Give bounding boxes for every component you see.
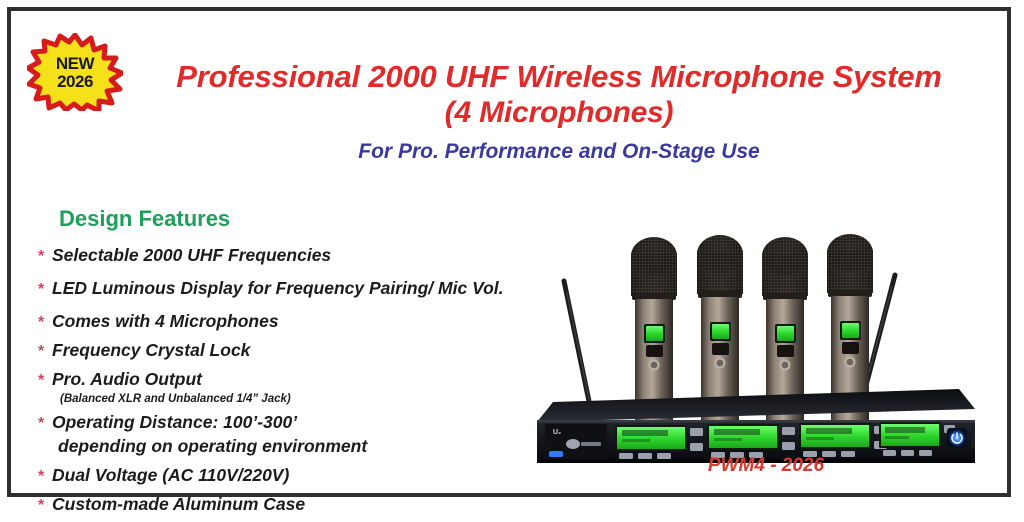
feature-item: * Frequency Crystal Lock: [38, 339, 558, 361]
design-features-heading: Design Features: [59, 206, 230, 232]
microphone-1: [631, 237, 677, 452]
receiver-brand-label: U₂: [553, 429, 561, 436]
model-number-label: PWM4 - 2026: [651, 455, 881, 477]
feature-label: Operating Distance: 100’-300’: [52, 411, 297, 433]
feature-label: Selectable 2000 UHF Frequencies: [52, 244, 331, 266]
feature-item: * Comes with 4 Microphones: [38, 310, 558, 332]
feature-item: * Dual Voltage (AC 110V/220V): [38, 464, 558, 486]
product-photo: U₂: [523, 223, 993, 473]
badge-new-label: NEW: [56, 55, 94, 72]
bullet-star-icon: *: [38, 281, 52, 299]
feature-label: Comes with 4 Microphones: [52, 310, 279, 332]
bullet-star-icon: *: [38, 248, 52, 266]
receiver-unit: U₂: [537, 389, 975, 463]
advertisement-frame: NEW 2026 Professional 2000 UHF Wireless …: [7, 7, 1011, 497]
receiver-status-led: [549, 451, 563, 457]
bullet-star-icon: *: [38, 343, 52, 361]
receiver-top: [537, 389, 975, 422]
bullet-star-icon: *: [38, 497, 52, 515]
badge-text-group: NEW 2026: [27, 33, 123, 111]
product-title-line-1: Professional 2000 UHF Wireless Microphon…: [119, 59, 999, 95]
bullet-star-icon: *: [38, 415, 52, 433]
microphone-3: [762, 237, 808, 452]
feature-item: * Pro. Audio Output: [38, 368, 558, 390]
feature-item: * Selectable 2000 UHF Frequencies: [38, 244, 558, 266]
product-title-line-2: (4 Microphones): [119, 95, 999, 131]
product-subtitle: For Pro. Performance and On-Stage Use: [119, 139, 999, 165]
feature-item: * LED Luminous Display for Frequency Pai…: [38, 277, 558, 299]
microphone-4: [827, 234, 873, 452]
receiver-brand-panel: U₂: [545, 424, 607, 459]
new-2026-badge: NEW 2026: [27, 33, 123, 111]
feature-label: Dual Voltage (AC 110V/220V): [52, 464, 289, 486]
power-button[interactable]: [947, 428, 967, 448]
badge-year-label: 2026: [57, 73, 93, 90]
feature-label: Pro. Audio Output: [52, 368, 202, 390]
feature-label: LED Luminous Display for Frequency Pairi…: [52, 277, 504, 299]
feature-label: Frequency Crystal Lock: [52, 339, 250, 361]
receiver-uhf-panel: [971, 426, 975, 448]
feature-item: * Operating Distance: 100’-300’: [38, 411, 558, 433]
feature-continuation: depending on operating environment: [58, 435, 558, 457]
feature-label: Custom-made Aluminum Case: [52, 493, 305, 515]
bullet-star-icon: *: [38, 314, 52, 332]
bullet-star-icon: *: [38, 468, 52, 486]
feature-subnote: (Balanced XLR and Unbalanced 1/4” Jack): [60, 392, 558, 407]
product-illustration: U₂: [523, 223, 993, 473]
bullet-star-icon: *: [38, 372, 52, 390]
design-features-list: * Selectable 2000 UHF Frequencies * LED …: [38, 244, 558, 522]
feature-item: * Custom-made Aluminum Case: [38, 493, 558, 515]
headline-block: Professional 2000 UHF Wireless Microphon…: [119, 59, 999, 165]
microphone-2: [697, 235, 743, 452]
